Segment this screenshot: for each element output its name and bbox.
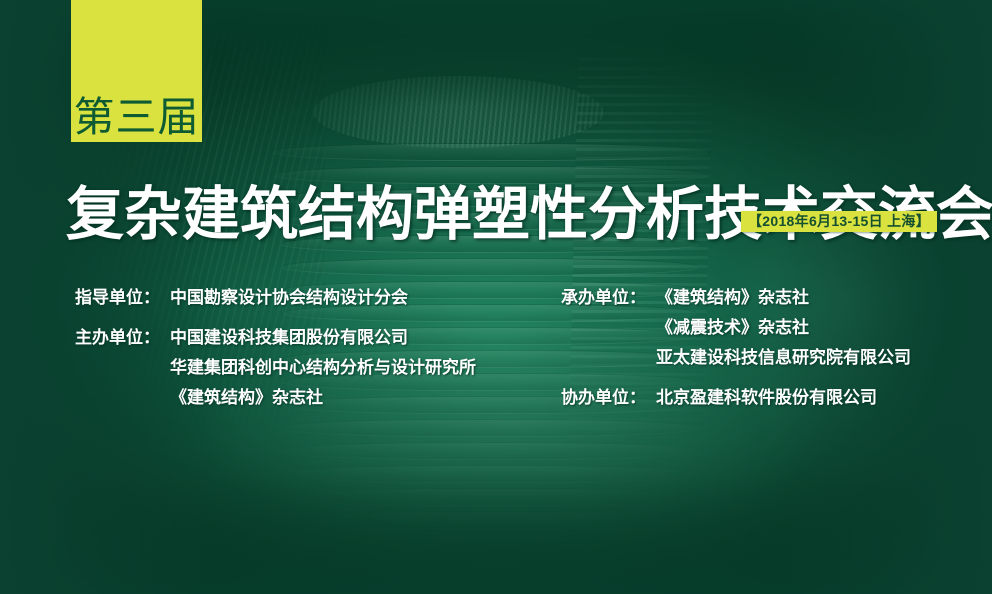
organizer-value: 北京盈建科软件股份有限公司	[656, 383, 877, 413]
organizer-value: 《减震技术》杂志社	[656, 313, 911, 343]
organizer-value-list: 《建筑结构》杂志社 《减震技术》杂志社 亚太建设科技信息研究院有限公司	[656, 283, 911, 373]
organizer-value-list: 中国建设科技集团股份有限公司 华建集团科创中心结构分析与设计研究所 《建筑结构》…	[170, 323, 476, 413]
organizer-value: 中国勘察设计协会结构设计分会	[170, 283, 408, 313]
organizer-value: 《建筑结构》杂志社	[170, 383, 476, 413]
organizer-value: 亚太建设科技信息研究院有限公司	[656, 343, 911, 373]
organizer-label: 主办单位：	[75, 323, 160, 413]
organizers-left-column: 指导单位： 中国勘察设计协会结构设计分会 主办单位： 中国建设科技集团股份有限公…	[75, 283, 476, 413]
organizer-value: 《建筑结构》杂志社	[656, 283, 911, 313]
organizers-right-column: 承办单位： 《建筑结构》杂志社 《减震技术》杂志社 亚太建设科技信息研究院有限公…	[561, 283, 911, 413]
organizer-label: 指导单位：	[75, 283, 160, 313]
edition-badge: 第三届	[71, 0, 202, 142]
poster-content: 第三届 复杂建筑结构弹塑性分析技术交流会 【2018年6月13-15日 上海】 …	[0, 0, 992, 594]
organizer-group: 承办单位： 《建筑结构》杂志社 《减震技术》杂志社 亚太建设科技信息研究院有限公…	[561, 283, 911, 373]
organizer-group: 协办单位： 北京盈建科软件股份有限公司	[561, 383, 911, 413]
organizer-value-list: 北京盈建科软件股份有限公司	[656, 383, 877, 413]
organizer-value: 华建集团科创中心结构分析与设计研究所	[170, 353, 476, 383]
conference-poster: 第三届 复杂建筑结构弹塑性分析技术交流会 【2018年6月13-15日 上海】 …	[0, 0, 992, 594]
organizer-value: 中国建设科技集团股份有限公司	[170, 323, 476, 353]
organizer-group: 主办单位： 中国建设科技集团股份有限公司 华建集团科创中心结构分析与设计研究所 …	[75, 323, 476, 413]
date-venue-badge: 【2018年6月13-15日 上海】	[741, 211, 937, 232]
organizer-value-list: 中国勘察设计协会结构设计分会	[170, 283, 408, 313]
organizer-label: 承办单位：	[561, 283, 646, 373]
organizer-label: 协办单位：	[561, 383, 646, 413]
edition-badge-label: 第三届	[74, 97, 200, 138]
organizer-group: 指导单位： 中国勘察设计协会结构设计分会	[75, 283, 476, 313]
